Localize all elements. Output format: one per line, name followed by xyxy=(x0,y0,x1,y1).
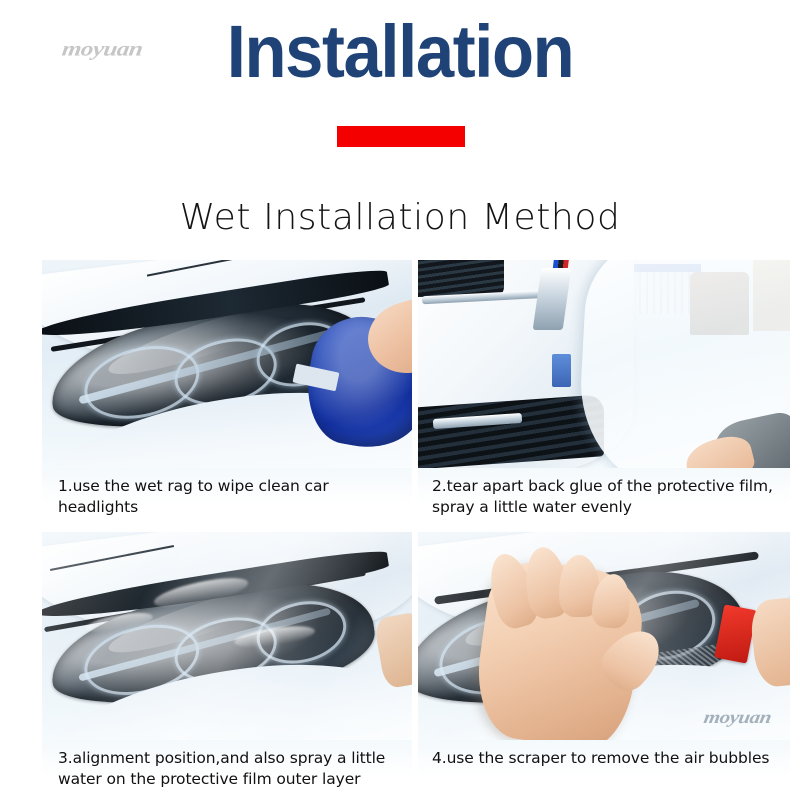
step-caption-3: 3.alignment position,and also spray a li… xyxy=(42,740,412,800)
accent-rule xyxy=(337,126,465,147)
lower-grille xyxy=(418,395,604,468)
step-photo-3 xyxy=(42,532,412,740)
blue-sensor-badge xyxy=(552,354,571,387)
step-photo-1 xyxy=(42,260,412,468)
step-caption-2: 2.tear apart back glue of the protective… xyxy=(418,468,790,528)
step-photo-4: moyuan xyxy=(418,532,790,740)
step-photo-2 xyxy=(418,260,790,468)
installation-steps-grid: 1.use the wet rag to wipe clean car head… xyxy=(42,260,784,800)
photo-watermark: moyuan xyxy=(703,706,774,727)
step-card-1: 1.use the wet rag to wipe clean car head… xyxy=(42,260,412,528)
step-caption-4: 4.use the scraper to remove the air bubb… xyxy=(418,740,790,800)
page-title: Installation xyxy=(28,10,772,94)
section-subtitle: Wet Installation Method xyxy=(0,196,800,240)
step-card-2: 2.tear apart back glue of the protective… xyxy=(418,260,790,528)
step-card-4: moyuan 4.use the scraper to remove the a… xyxy=(418,532,790,800)
step-caption-1: 1.use the wet rag to wipe clean car head… xyxy=(42,468,412,528)
step-card-3: 3.alignment position,and also spray a li… xyxy=(42,532,412,800)
page-header: moyuan Installation Wet Installation Met… xyxy=(0,0,800,185)
